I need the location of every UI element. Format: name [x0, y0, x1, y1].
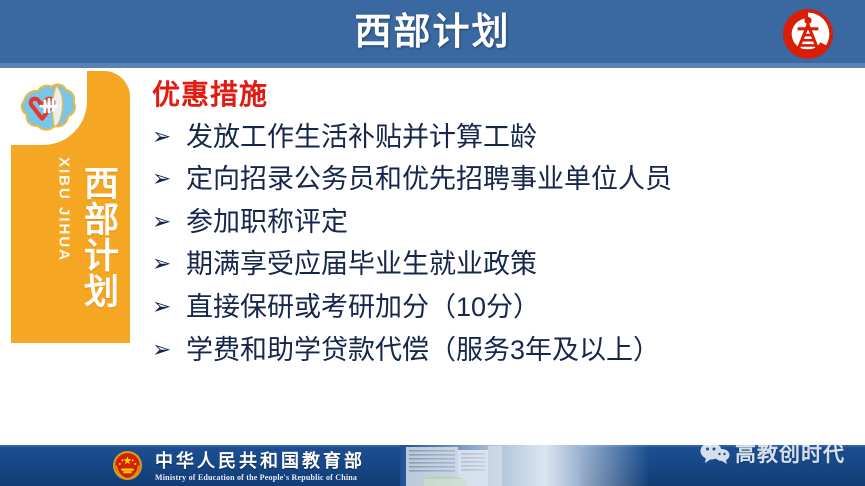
arrow-bullet-icon: ➢	[152, 162, 186, 195]
footer-org-block: 中华人民共和国教育部 Ministry of Education of the …	[155, 451, 365, 483]
china-youth-volunteers-logo-icon	[782, 8, 834, 60]
national-emblem-china-icon	[112, 450, 143, 481]
list-item-label: 发放工作生活补贴并计算工龄	[186, 120, 537, 156]
list-item: ➢ 直接保研或考研加分（10分）	[152, 290, 852, 326]
list-item: ➢ 学费和助学贷款代偿（服务3年及以上）	[152, 333, 852, 369]
content-heading: 优惠措施	[152, 78, 852, 112]
benefits-list: ➢ 发放工作生活补贴并计算工龄 ➢ 定向招录公务员和优先招聘事业单位人员 ➢ 参…	[152, 120, 852, 369]
arrow-bullet-icon: ➢	[152, 205, 186, 238]
list-item: ➢ 参加职称评定	[152, 205, 852, 241]
side-banner-title-pinyin: XIBU JIHUA	[56, 145, 73, 275]
china-map-heart-logo-icon	[14, 76, 84, 138]
wechat-bubble-icon	[700, 441, 730, 465]
slide-header: 西部计划	[0, 0, 865, 67]
footer-org-name-en: Ministry of Education of the People's Re…	[155, 472, 365, 483]
footer-photo-fade	[400, 445, 650, 486]
list-item-label: 期满享受应届毕业生就业政策	[186, 247, 537, 283]
header-underline	[0, 63, 865, 68]
list-item-label: 直接保研或考研加分（10分）	[186, 290, 540, 326]
arrow-bullet-icon: ➢	[152, 247, 186, 280]
list-item-label: 学费和助学贷款代偿（服务3年及以上）	[186, 333, 660, 369]
presentation-slide: 西部计划 西部计划 XIBU JIHUA 优惠措施	[0, 0, 865, 486]
arrow-bullet-icon: ➢	[152, 333, 186, 366]
slide-content: 优惠措施 ➢ 发放工作生活补贴并计算工龄 ➢ 定向招录公务员和优先招聘事业单位人…	[152, 78, 852, 375]
list-item-label: 参加职称评定	[186, 205, 348, 241]
watermark-label: 高教创时代	[735, 438, 845, 468]
page-title: 西部计划	[0, 0, 865, 63]
list-item: ➢ 期满享受应届毕业生就业政策	[152, 247, 852, 283]
list-item: ➢ 发放工作生活补贴并计算工龄	[152, 120, 852, 156]
xibu-jihua-side-banner: 西部计划 XIBU JIHUA	[11, 71, 130, 343]
arrow-bullet-icon: ➢	[152, 120, 186, 153]
list-item: ➢ 定向招录公务员和优先招聘事业单位人员	[152, 162, 852, 198]
arrow-bullet-icon: ➢	[152, 290, 186, 323]
footer-org-name-cn: 中华人民共和国教育部	[155, 451, 365, 471]
watermark: 高教创时代	[700, 438, 845, 468]
list-item-label: 定向招录公务员和优先招聘事业单位人员	[186, 162, 672, 198]
side-banner-title-cn: 西部计划	[66, 149, 118, 325]
